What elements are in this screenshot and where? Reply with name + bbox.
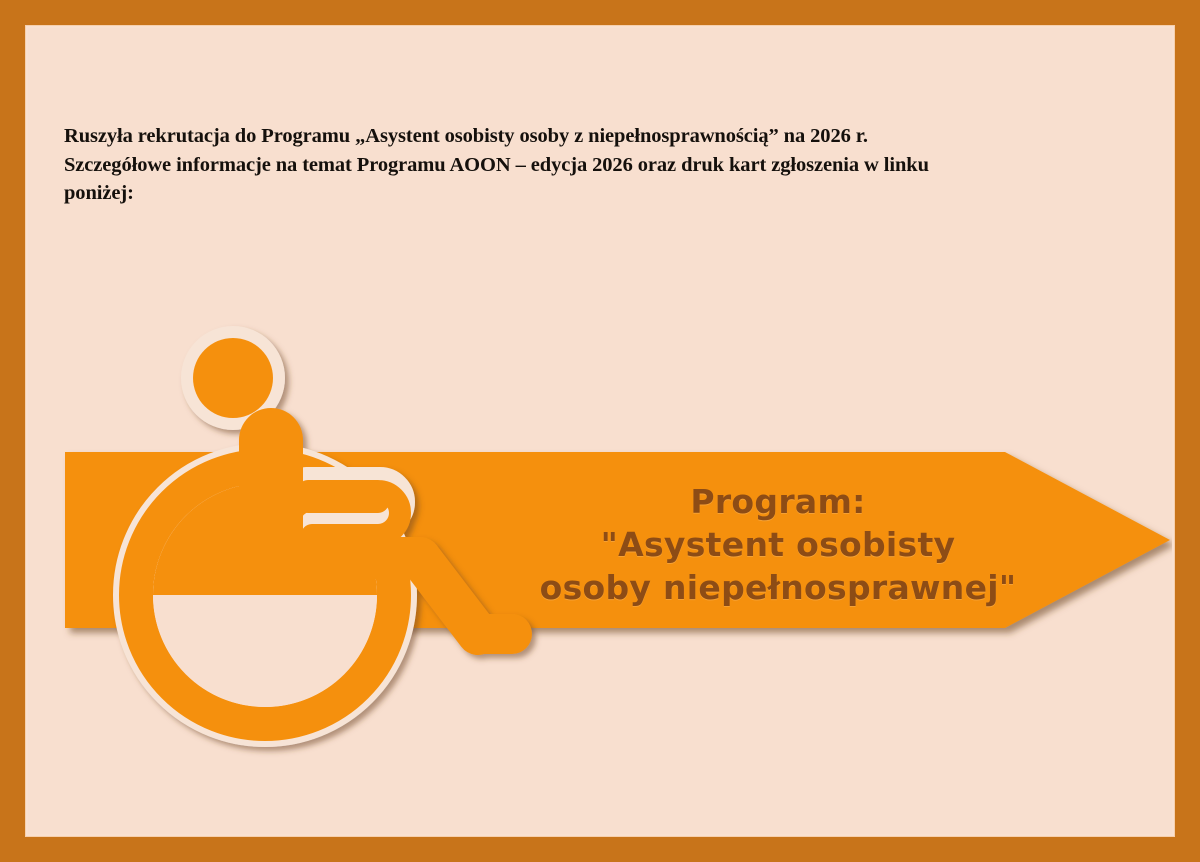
poster-root: Ruszyła rekrutacja do Programu „Asystent…: [0, 0, 1200, 862]
wheelchair-arrow-graphic: [28, 28, 1172, 834]
head: [193, 338, 273, 418]
poster-canvas: Ruszyła rekrutacja do Programu „Asystent…: [28, 28, 1172, 834]
